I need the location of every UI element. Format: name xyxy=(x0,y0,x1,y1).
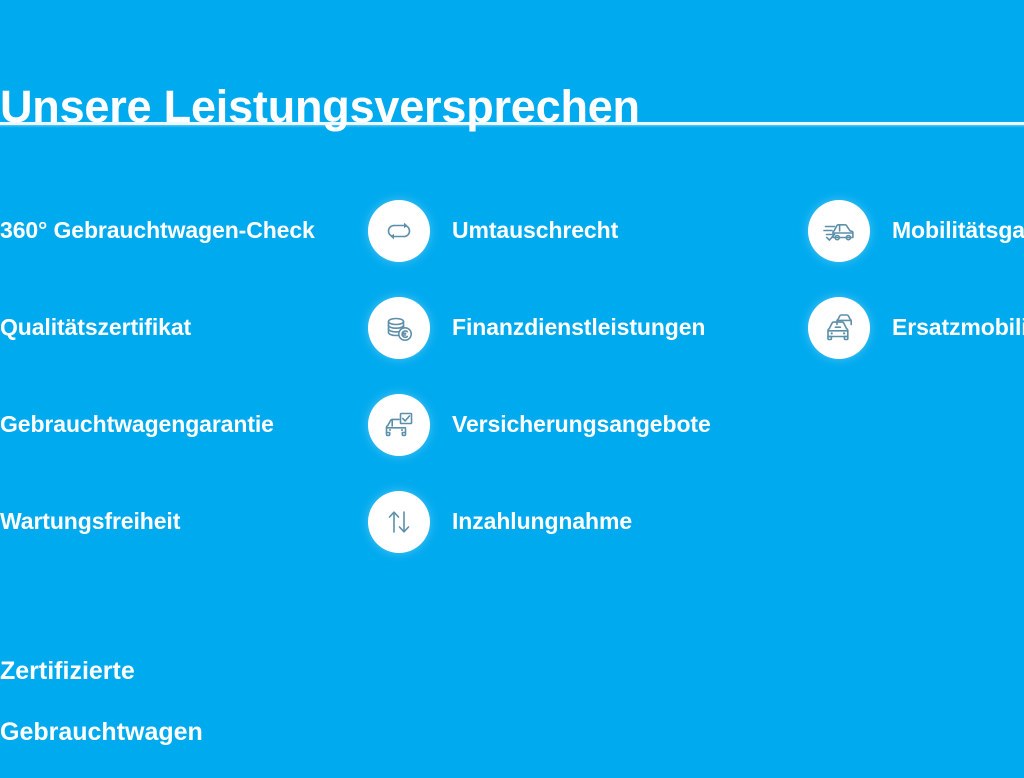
promise-item-mobilitaetsgarantie[interactable]: Mobilitätsgarantie xyxy=(808,182,1024,279)
promise-label: Inzahlungnahme xyxy=(452,508,632,535)
promise-label: 360° Gebrauchtwagen-Check xyxy=(0,217,315,244)
promise-item-finanzdienstleistungen[interactable]: Finanzdienstleistungen xyxy=(368,279,768,376)
up-down-arrows-icon xyxy=(368,491,430,553)
promise-item-qualitaetszertifikat[interactable]: Qualitätszertifikat xyxy=(0,279,360,376)
header-divider xyxy=(0,122,1024,125)
promise-label: Umtauschrecht xyxy=(452,217,618,244)
promise-item-wartungsfreiheit[interactable]: Wartungsfreiheit xyxy=(0,473,360,570)
car-check-document-icon xyxy=(368,394,430,456)
promise-label: Ersatzmobilität xyxy=(892,314,1024,341)
footer-claim-line-1: Zertifizierte xyxy=(0,656,203,687)
footer-claim: Zertifizierte Gebrauchtwagen xyxy=(0,625,203,778)
promise-item-umtauschrecht[interactable]: Umtauschrecht xyxy=(368,182,768,279)
promise-column-2: Umtauschrecht Finanzdienstleistungen xyxy=(368,182,768,570)
exchange-arrows-icon xyxy=(368,200,430,262)
slide-canvas: Unsere Leistungsversprechen 360° Gebrauc… xyxy=(0,0,1024,768)
footer-claim-line-2: Gebrauchtwagen xyxy=(0,717,203,748)
promise-label: Wartungsfreiheit xyxy=(0,508,180,535)
promise-item-gebrauchtwagen-check[interactable]: 360° Gebrauchtwagen-Check xyxy=(0,182,360,279)
car-speed-lines-icon xyxy=(808,200,870,262)
promise-item-inzahlungnahme[interactable]: Inzahlungnahme xyxy=(368,473,768,570)
promise-label: Qualitätszertifikat xyxy=(0,314,191,341)
coins-euro-icon xyxy=(368,297,430,359)
promise-column-3: Mobilitätsgarantie Ersatzmobilität xyxy=(808,182,1024,376)
promise-item-ersatzmobilitaet[interactable]: Ersatzmobilität xyxy=(808,279,1024,376)
promise-item-versicherungsangebote[interactable]: Versicherungsangebote xyxy=(368,376,768,473)
two-cars-icon xyxy=(808,297,870,359)
promise-column-1: 360° Gebrauchtwagen-Check Qualitätszerti… xyxy=(0,182,360,570)
promise-label: Mobilitätsgarantie xyxy=(892,217,1024,244)
promise-label: Versicherungsangebote xyxy=(452,411,711,438)
promise-label: Gebrauchtwagengarantie xyxy=(0,411,274,438)
promise-label: Finanzdienstleistungen xyxy=(452,314,705,341)
promise-item-gebrauchtwagengarantie[interactable]: Gebrauchtwagengarantie xyxy=(0,376,360,473)
